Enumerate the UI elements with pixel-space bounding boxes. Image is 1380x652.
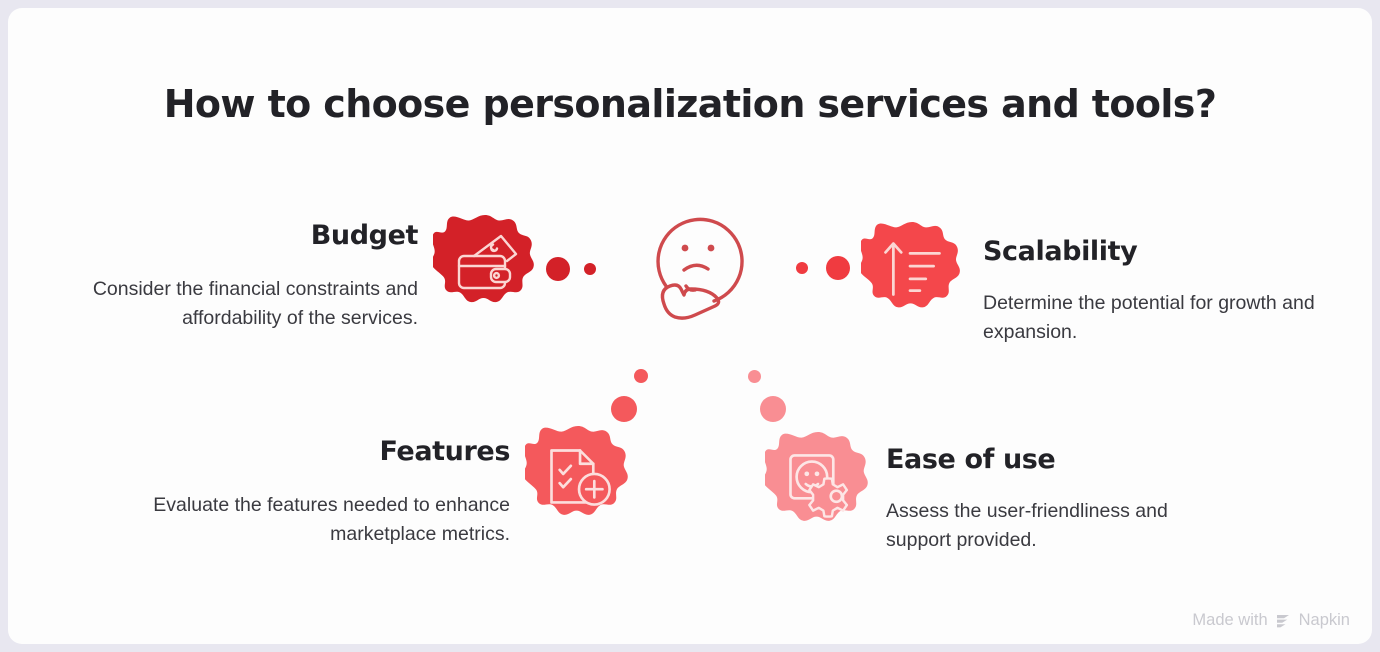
watermark-brand-label: Napkin: [1299, 611, 1350, 630]
screen-smiley-gear-icon: [765, 430, 871, 536]
page-title: How to choose personalization services a…: [8, 82, 1372, 126]
item-scalability-heading: Scalability: [983, 236, 1323, 267]
item-budget-description: Consider the financial constraints and a…: [48, 275, 418, 334]
item-scalability: Scalability Determine the potential for …: [983, 236, 1323, 348]
item-ease-of-use-description: Assess the user-friendliness and support…: [886, 497, 1226, 556]
connector-dot: [584, 263, 596, 275]
item-features-heading: Features: [98, 436, 510, 467]
napkin-chevron-logo: [1275, 613, 1292, 629]
item-features: Features Evaluate the features needed to…: [98, 436, 510, 550]
connector-dot: [634, 369, 648, 383]
connector-dot: [748, 370, 761, 383]
item-budget-heading: Budget: [48, 220, 418, 251]
connector-dot: [546, 257, 570, 281]
connector-dot: [796, 262, 808, 274]
infographic-card: How to choose personalization services a…: [8, 8, 1372, 644]
thinking-face-icon: [640, 204, 756, 326]
connector-dot: [760, 396, 786, 422]
growth-arrow-chart-icon: [861, 220, 963, 322]
item-ease-of-use-heading: Ease of use: [886, 444, 1226, 475]
item-budget: Budget Consider the financial constraint…: [48, 220, 418, 334]
watermark-made-with-label: Made with: [1192, 611, 1267, 630]
item-ease-of-use: Ease of use Assess the user-friendliness…: [886, 444, 1226, 556]
document-checklist-plus-icon: [525, 424, 631, 530]
wallet-icon: [433, 213, 537, 317]
connector-dot: [611, 396, 637, 422]
connector-dot: [826, 256, 850, 280]
napkin-watermark: Made with Napkin: [1192, 611, 1350, 630]
item-scalability-description: Determine the potential for growth and e…: [983, 289, 1323, 348]
item-features-description: Evaluate the features needed to enhance …: [98, 491, 510, 550]
